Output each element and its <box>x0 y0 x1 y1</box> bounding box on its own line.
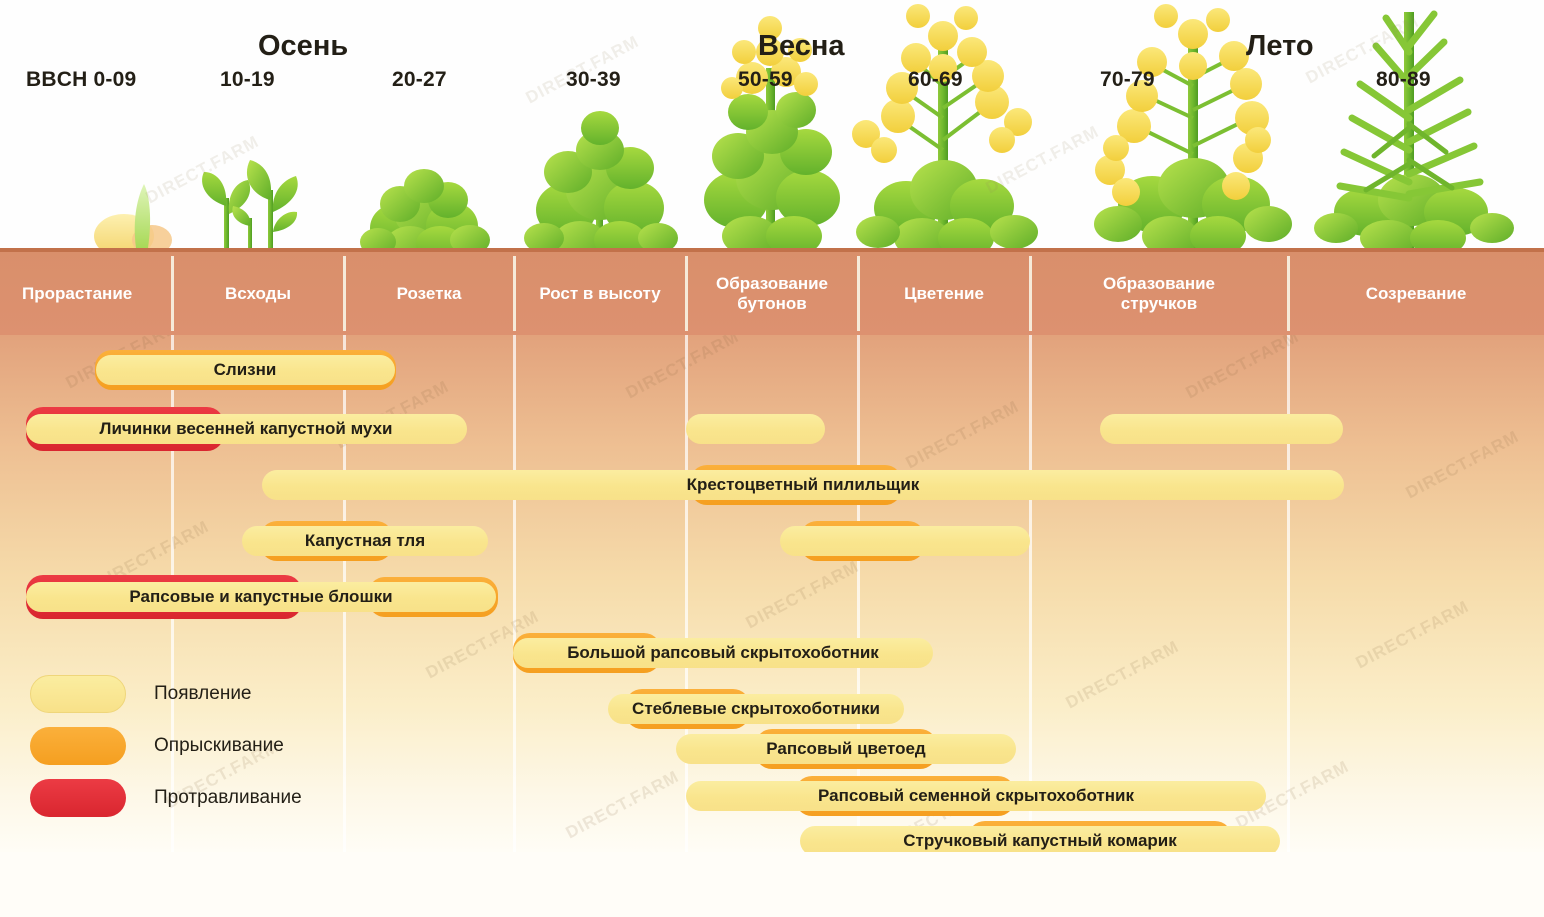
stage-header-label: Рост в высоту <box>539 284 660 304</box>
stage-header-cell[interactable]: Созревание <box>1288 252 1544 335</box>
pest-row[interactable]: Личинки весенней капустной мухи <box>0 393 1544 445</box>
legend-swatch-spray <box>30 727 126 765</box>
plant-bud-formation <box>704 16 840 252</box>
plant-rosette <box>360 169 490 252</box>
growth-stage-header: ПрорастаниеВсходыРозеткаРост в высотуОбр… <box>0 252 1544 335</box>
stage-header-cell[interactable]: Прорастание <box>0 252 172 335</box>
stage-header-label: Прорастание <box>22 284 132 304</box>
legend-label: Протравливание <box>154 787 302 809</box>
footer-strip <box>0 852 1544 917</box>
pest-name-label: Капустная тля <box>242 526 488 556</box>
legend-label: Опрыскивание <box>154 735 284 757</box>
stage-header-label: Образование стручков <box>1103 274 1215 313</box>
legend-swatch-appear <box>30 675 126 713</box>
pest-timeline-chart: СлизниЛичинки весенней капустной мухиКре… <box>0 335 1544 852</box>
pest-name-label: Стручковый капустный комарик <box>800 826 1280 852</box>
timeline-bar-appear[interactable] <box>686 414 825 444</box>
stage-header-label: Всходы <box>225 284 291 304</box>
stage-header-cell[interactable]: Розетка <box>344 252 514 335</box>
legend-item-seed[interactable]: Протравливание <box>30 779 302 817</box>
timeline-bar-appear[interactable] <box>1100 414 1343 444</box>
stage-header-cell[interactable]: Образование бутонов <box>686 252 858 335</box>
stage-header-label: Розетка <box>397 284 462 304</box>
legend-item-spray[interactable]: Опрыскивание <box>30 727 284 765</box>
stage-header-label: Образование бутонов <box>716 274 828 313</box>
pest-row[interactable]: Капустная тля <box>0 505 1544 557</box>
stage-header-label: Созревание <box>1366 284 1467 304</box>
stage-header-divider <box>513 256 516 331</box>
legend-swatch-seed <box>30 779 126 817</box>
stage-header-divider <box>685 256 688 331</box>
rapeseed-growth-stages-svg <box>0 0 1544 252</box>
pest-name-label: Слизни <box>95 355 395 385</box>
plant-ripening <box>1314 12 1514 252</box>
stage-header-label: Цветение <box>904 284 984 304</box>
pest-name-label: Крестоцветный пилильщик <box>262 470 1344 500</box>
plant-pod-formation <box>1094 4 1292 252</box>
stage-header-cell[interactable]: Образование стручков <box>1030 252 1288 335</box>
pest-row[interactable]: Большой рапсовый скрытохоботник <box>0 617 1544 669</box>
pest-name-label: Личинки весенней капустной мухи <box>26 414 466 444</box>
pest-name-label: Рапсовый семенной скрытохоботник <box>686 781 1266 811</box>
pest-row[interactable]: Крестоцветный пилильщик <box>0 449 1544 501</box>
stage-header-divider <box>857 256 860 331</box>
plant-seedling <box>202 160 298 250</box>
stage-header-cell[interactable]: Цветение <box>858 252 1030 335</box>
plant-stem-elongation <box>524 111 678 252</box>
stage-header-divider <box>343 256 346 331</box>
plant-germination <box>94 184 172 252</box>
pest-row[interactable]: Слизни <box>0 337 1544 389</box>
legend-item-appear[interactable]: Появление <box>30 675 252 713</box>
plant-flowering <box>852 4 1038 252</box>
stage-header-divider <box>1029 256 1032 331</box>
timeline-bar-appear[interactable] <box>780 526 1030 556</box>
stage-header-cell[interactable]: Рост в высоту <box>514 252 686 335</box>
stage-header-cell[interactable]: Всходы <box>172 252 344 335</box>
pest-row[interactable]: Рапсовые и капустные блошки <box>0 561 1544 613</box>
infographic-root: DIRECT.FARM DIRECT.FARM DIRECT.FARM DIRE… <box>0 0 1544 917</box>
legend-label: Появление <box>154 683 252 705</box>
stage-header-divider <box>1287 256 1290 331</box>
pest-name-label: Рапсовые и капустные блошки <box>26 582 496 612</box>
pest-name-label: Большой рапсовый скрытохоботник <box>513 638 933 668</box>
pest-name-label: Стеблевые скрытохоботники <box>608 694 904 724</box>
plant-stage-illustration-band: DIRECT.FARM DIRECT.FARM DIRECT.FARM DIRE… <box>0 0 1544 252</box>
pest-name-label: Рапсовый цветоед <box>676 734 1016 764</box>
stage-header-divider <box>171 256 174 331</box>
